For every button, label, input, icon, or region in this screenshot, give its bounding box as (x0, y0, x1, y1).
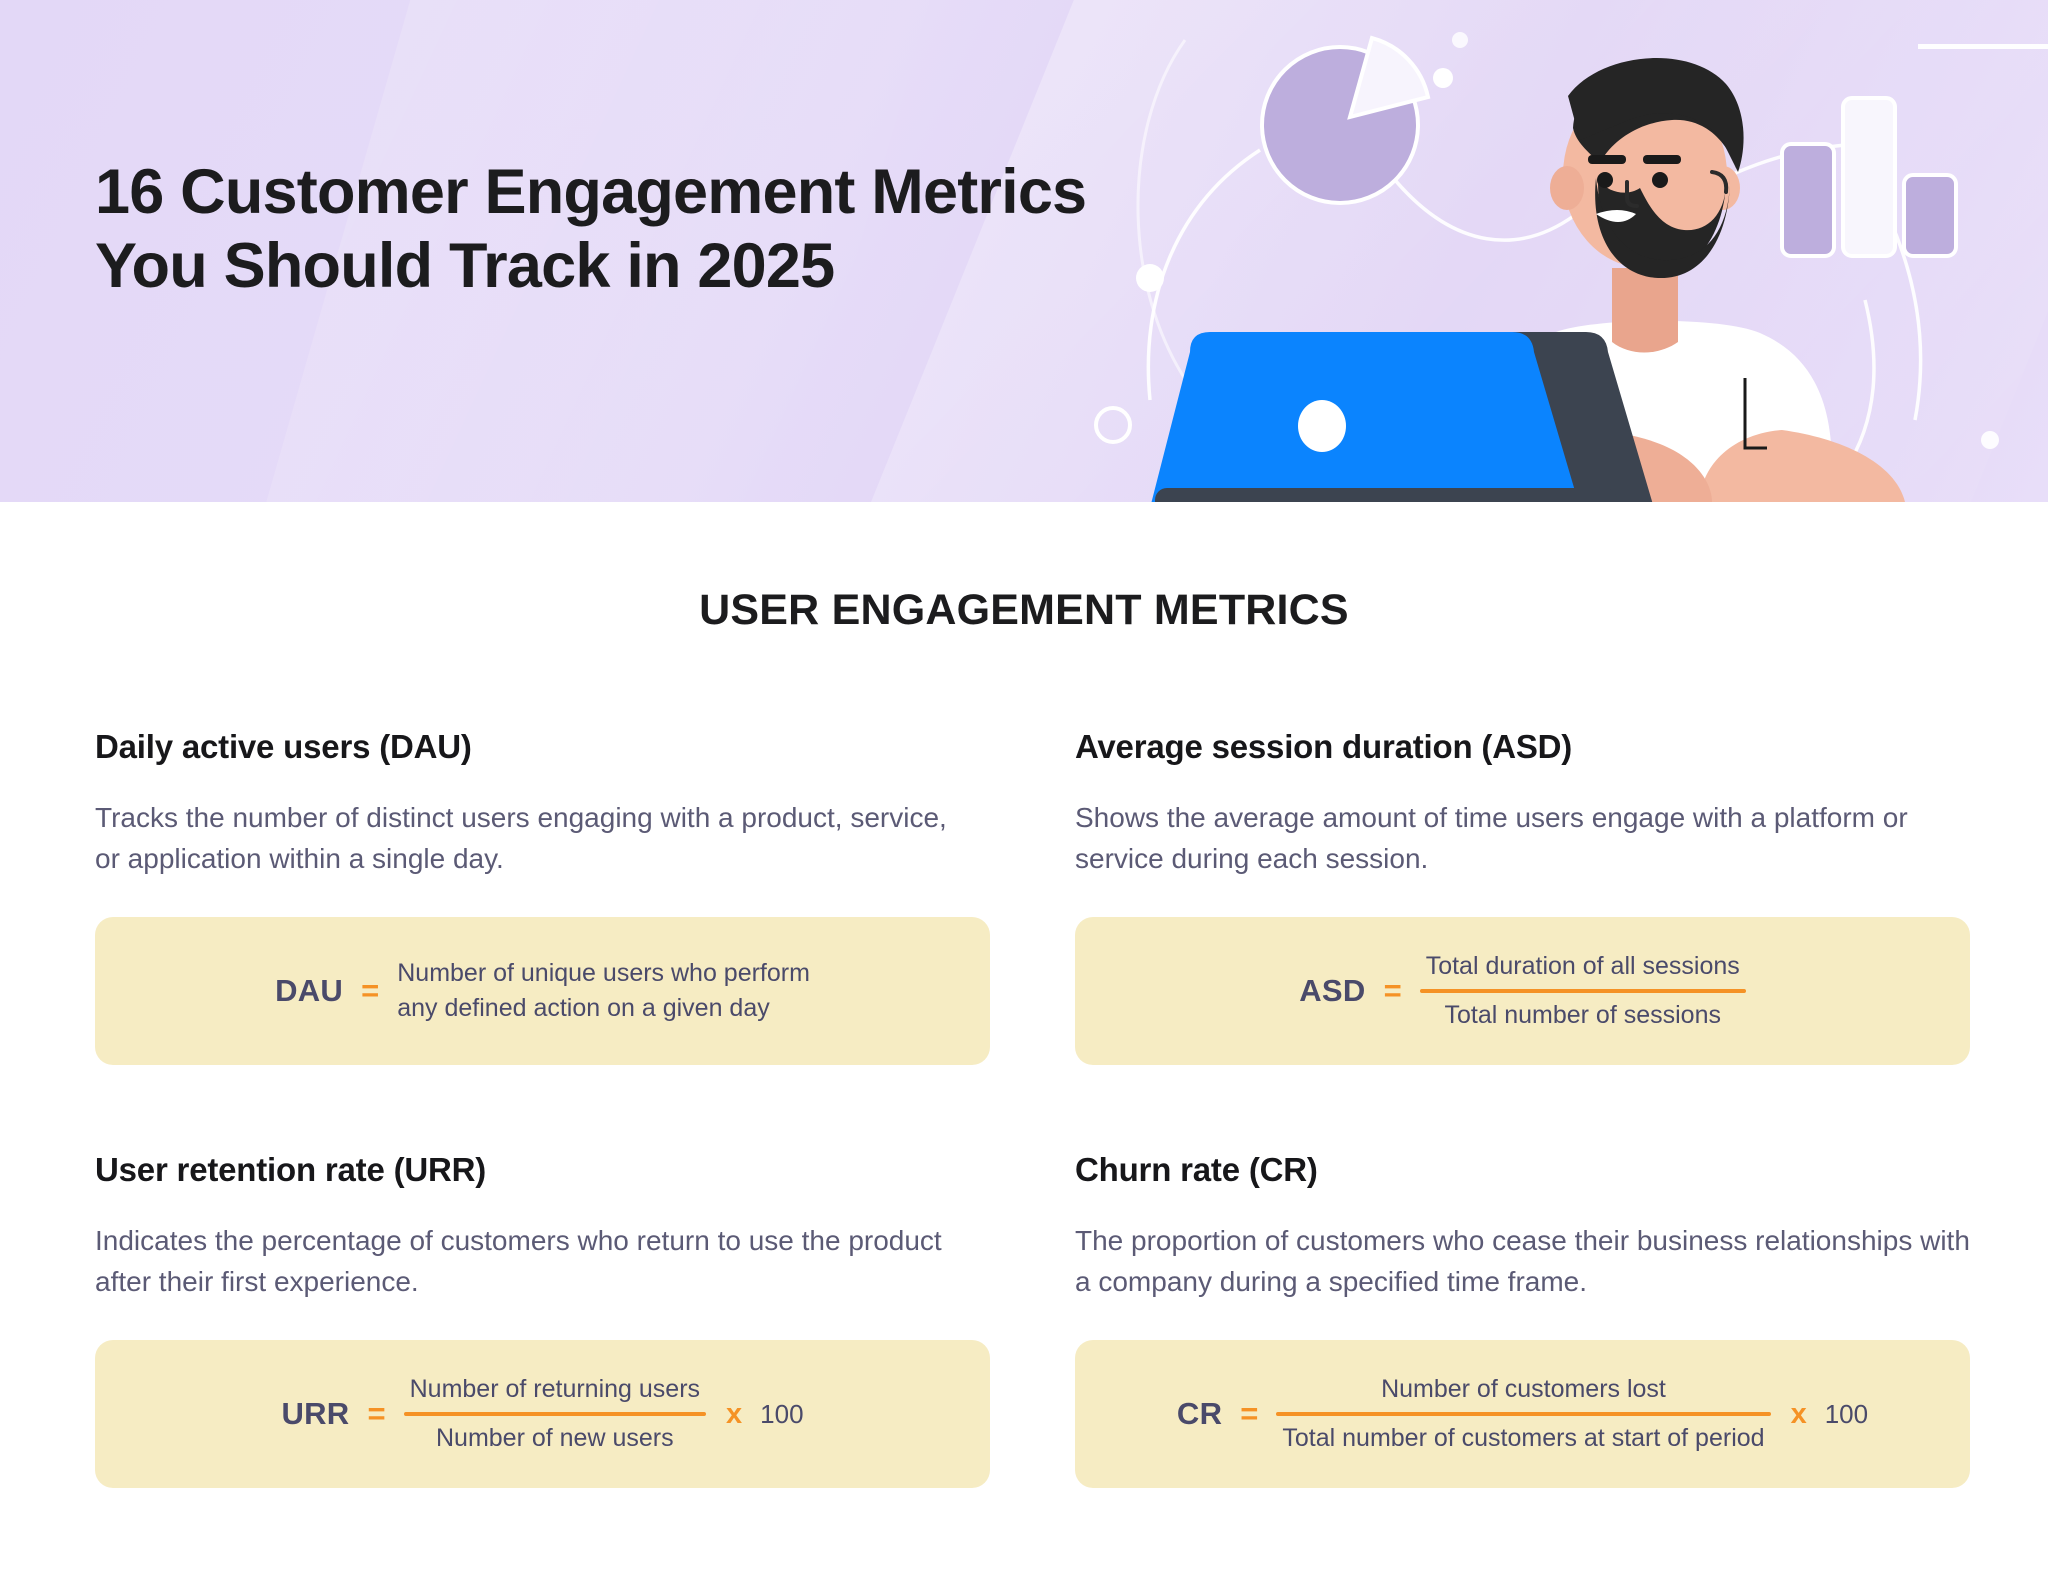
metric-title: Churn rate (CR) (1075, 1151, 1985, 1189)
decor-ring-icon (1096, 408, 1130, 442)
formula-row: CR = Number of customers lost Total numb… (1177, 1374, 1868, 1455)
metric-description: Indicates the percentage of customers wh… (95, 1221, 975, 1302)
formula-expression: Number of unique users who perform any d… (397, 956, 810, 1027)
formula-box: DAU = Number of unique users who perform… (95, 917, 990, 1065)
row-spacer (1075, 1065, 1985, 1151)
metric-title: User retention rate (URR) (95, 1151, 1075, 1189)
laptop-icon (1150, 332, 1654, 502)
formula-box: URR = Number of returning users Number o… (95, 1340, 990, 1488)
formula-box: CR = Number of customers lost Total numb… (1075, 1340, 1970, 1488)
metric-card-asd: Average session duration (ASD) Shows the… (1075, 728, 1985, 1065)
page-title-line2: You Should Track in 2025 (95, 229, 1245, 303)
page-title-line1: 16 Customer Engagement Metrics (95, 155, 1245, 229)
formula-fraction: Number of returning users Number of new … (404, 1374, 706, 1455)
formula-line-1: Number of unique users who perform (397, 956, 810, 992)
formula-times-sign: x (1791, 1398, 1807, 1431)
fraction-bar (404, 1412, 706, 1416)
fraction-denominator: Total number of sessions (1438, 1000, 1727, 1031)
formula-box: ASD = Total duration of all sessions Tot… (1075, 917, 1970, 1065)
formula-fraction: Total duration of all sessions Total num… (1420, 951, 1746, 1032)
fraction-numerator: Total duration of all sessions (1420, 951, 1746, 982)
bar-chart-icon (1782, 98, 1956, 256)
metric-card-cr: Churn rate (CR) The proportion of custom… (1075, 1151, 1985, 1488)
fraction-bar (1420, 989, 1746, 993)
pie-chart-icon (1262, 38, 1453, 203)
fraction-denominator: Total number of customers at start of pe… (1276, 1423, 1770, 1454)
formula-multiplier: 100 (1825, 1399, 1868, 1430)
section-heading: USER ENGAGEMENT METRICS (0, 586, 2048, 635)
metric-description: Shows the average amount of time users e… (1075, 798, 1985, 879)
formula-equals-sign: = (1384, 973, 1402, 1009)
metric-title: Average session duration (ASD) (1075, 728, 1985, 766)
fraction-numerator: Number of returning users (404, 1374, 706, 1405)
formula-abbreviation: ASD (1299, 973, 1365, 1009)
formula-times-sign: x (726, 1398, 742, 1431)
formula-equals-sign: = (1240, 1396, 1258, 1432)
fraction-denominator: Number of new users (430, 1423, 680, 1454)
fraction-bar (1276, 1412, 1770, 1416)
metric-description: Tracks the number of distinct users enga… (95, 798, 975, 879)
decor-hline-icon (1918, 44, 2048, 49)
metric-title: Daily active users (DAU) (95, 728, 1075, 766)
infographic-page: 16 Customer Engagement Metrics You Shoul… (0, 0, 2048, 1590)
formula-line-2: any defined action on a given day (397, 991, 810, 1027)
formula-row: DAU = Number of unique users who perform… (275, 956, 810, 1027)
decor-dot-small2-icon (1981, 431, 1999, 449)
formula-abbreviation: URR (281, 1396, 349, 1432)
formula-abbreviation: DAU (275, 973, 343, 1009)
decor-dot-small-icon (1452, 32, 1468, 48)
formula-row: URR = Number of returning users Number o… (281, 1374, 803, 1455)
formula-equals-sign: = (368, 1396, 386, 1432)
metric-description: The proportion of customers who cease th… (1075, 1221, 1985, 1302)
page-title: 16 Customer Engagement Metrics You Shoul… (95, 155, 1245, 304)
formula-abbreviation: CR (1177, 1396, 1222, 1432)
metrics-grid: Daily active users (DAU) Tracks the numb… (95, 728, 1985, 1488)
formula-equals-sign: = (361, 973, 379, 1009)
metric-card-dau: Daily active users (DAU) Tracks the numb… (95, 728, 1075, 1065)
metric-card-urr: User retention rate (URR) Indicates the … (95, 1151, 1075, 1488)
formula-row: ASD = Total duration of all sessions Tot… (1299, 951, 1746, 1032)
formula-multiplier: 100 (760, 1399, 803, 1430)
fraction-numerator: Number of customers lost (1375, 1374, 1672, 1405)
header-banner: 16 Customer Engagement Metrics You Shoul… (0, 0, 2048, 502)
row-spacer (95, 1065, 1075, 1151)
formula-fraction: Number of customers lost Total number of… (1276, 1374, 1770, 1455)
